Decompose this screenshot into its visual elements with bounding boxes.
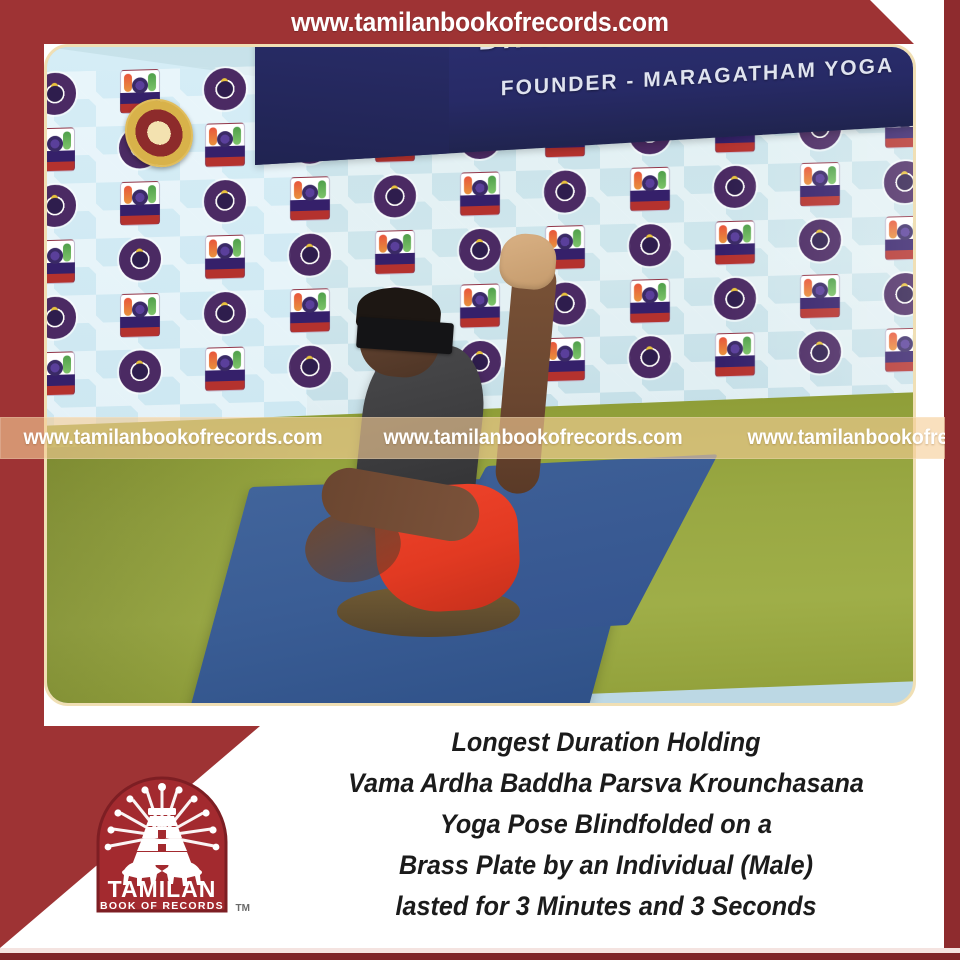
logo-wordmark: TAMILAN [108, 876, 217, 902]
tamilan-book-of-records-logo: TAMILAN BOOK OF RECORDS TM [88, 770, 236, 918]
record-photo-frame: Dr. V. G. FOUNDER - MARAGATHAM YOGA [44, 44, 916, 706]
logo-trademark-mark: TM [236, 903, 250, 914]
elite-world-records-seal-icon [204, 291, 246, 334]
india-book-of-records-badge-icon [47, 127, 75, 172]
event-banner-line-1: Dr. V. G. [478, 47, 610, 57]
caption-line-2: Vama Ardha Baddha Parsva Krounchasana [312, 763, 901, 804]
frame-right-band [944, 0, 960, 960]
india-book-of-records-badge-icon [460, 171, 500, 216]
frame-bottom-band [0, 953, 960, 960]
caption-line-4: Brass Plate by an Individual (Male) [312, 845, 901, 886]
india-book-of-records-badge-icon [290, 176, 330, 221]
elite-world-records-seal-icon [119, 349, 161, 392]
caption-line-3: Yoga Pose Blindfolded on a [312, 804, 901, 845]
elite-world-records-seal-icon [119, 237, 161, 280]
elite-world-records-seal-icon [47, 296, 76, 339]
event-banner-left-panel [255, 47, 449, 165]
elite-world-records-seal-icon [544, 170, 586, 213]
india-book-of-records-badge-icon [205, 346, 245, 391]
india-book-of-records-badge-icon [120, 180, 160, 225]
record-photo: Dr. V. G. FOUNDER - MARAGATHAM YOGA [47, 47, 913, 703]
elite-world-records-seal-icon [47, 184, 76, 227]
record-certificate-card: www.tamilanbookofrecords.com [0, 0, 960, 960]
watermark-text-3: www.tamilanbookofrecords.com [748, 426, 945, 450]
watermark-text-2: www.tamilanbookofrecords.com [384, 426, 683, 450]
elite-world-records-seal-icon [204, 179, 246, 222]
blindfold [356, 316, 454, 354]
elite-world-records-seal-icon [47, 72, 76, 115]
event-banner-line-2: FOUNDER - MARAGATHAM YOGA [501, 54, 894, 101]
caption-line-5: lasted for 3 Minutes and 3 Seconds [312, 886, 901, 927]
elite-world-records-seal-icon [204, 67, 246, 110]
india-book-of-records-badge-icon [47, 351, 75, 396]
elite-world-records-seal-icon [374, 174, 416, 217]
india-book-of-records-badge-icon [205, 122, 245, 167]
raised-leg [494, 257, 558, 495]
india-book-of-records-badge-icon [630, 166, 670, 211]
record-caption: Longest Duration Holding Vama Ardha Badd… [312, 722, 901, 927]
record-holder-subject [281, 250, 679, 670]
india-book-of-records-badge-icon [120, 292, 160, 337]
logo-subtitle: BOOK OF RECORDS [100, 900, 224, 912]
watermark-band: www.tamilanbookofrecords.com www.tamilan… [0, 417, 945, 459]
india-book-of-records-badge-icon [205, 234, 245, 279]
india-book-of-records-badge-icon [47, 239, 75, 284]
caption-line-1: Longest Duration Holding [312, 722, 901, 763]
frame-left-band [0, 0, 44, 790]
header-website-url: www.tamilanbookofrecords.com [38, 2, 921, 42]
watermark-text-1: www.tamilanbookofrecords.com [24, 426, 323, 450]
